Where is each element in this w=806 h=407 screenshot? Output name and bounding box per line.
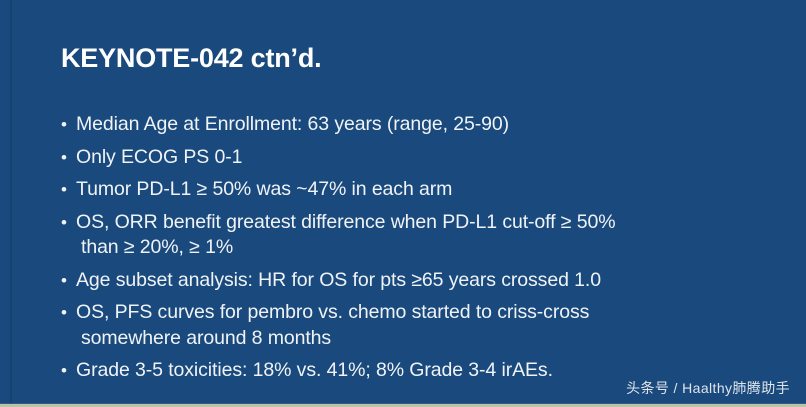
bullet-item-7-text: Grade 3-5 toxicities: 18% vs. 41%; 8% Gr…	[76, 359, 553, 381]
bullet-dot-icon: •	[61, 358, 67, 384]
left-edge-seam	[10, 0, 12, 407]
bullet-dot-icon: •	[61, 177, 67, 203]
bullet-item-6-text: OS, PFS curves for pembro vs. chemo star…	[76, 301, 589, 323]
bullet-item-5-text: Age subset analysis: HR for OS for pts ≥…	[76, 269, 601, 291]
bullet-dot-icon: •	[61, 145, 67, 171]
bullet-dot-icon: •	[61, 268, 67, 294]
bullet-item-2-text: Only ECOG PS 0-1	[76, 146, 242, 168]
bullet-item-6: • OS, PFS curves for pembro vs. chemo st…	[58, 300, 788, 351]
bullet-list: • Median Age at Enrollment: 63 years (ra…	[58, 112, 788, 391]
bullet-item-2: • Only ECOG PS 0-1	[58, 145, 788, 171]
bullet-item-3: • Tumor PD-L1 ≥ 50% was ~47% in each arm	[58, 177, 788, 203]
bullet-item-4: • OS, ORR benefit greatest difference wh…	[58, 210, 788, 261]
slide-title: KEYNOTE-042 ctn’d.	[61, 43, 321, 74]
source-watermark: 头条号 / Haalthy肺腾助手	[626, 378, 790, 398]
presentation-slide: KEYNOTE-042 ctn’d. • Median Age at Enrol…	[0, 0, 806, 407]
bullet-dot-icon: •	[61, 112, 67, 138]
bullet-dot-icon: •	[61, 300, 67, 326]
bullet-item-1-text: Median Age at Enrollment: 63 years (rang…	[76, 113, 509, 135]
bullet-item-5: • Age subset analysis: HR for OS for pts…	[58, 268, 788, 294]
bullet-dot-icon: •	[61, 210, 67, 236]
bullet-item-1: • Median Age at Enrollment: 63 years (ra…	[58, 112, 788, 138]
bullet-item-4-text-continued: than ≥ 20%, ≥ 1%	[76, 235, 788, 261]
bullet-item-4-text: OS, ORR benefit greatest difference when…	[76, 211, 615, 233]
bullet-item-3-text: Tumor PD-L1 ≥ 50% was ~47% in each arm	[76, 178, 452, 200]
bullet-item-6-text-continued: somewhere around 8 months	[76, 326, 788, 352]
